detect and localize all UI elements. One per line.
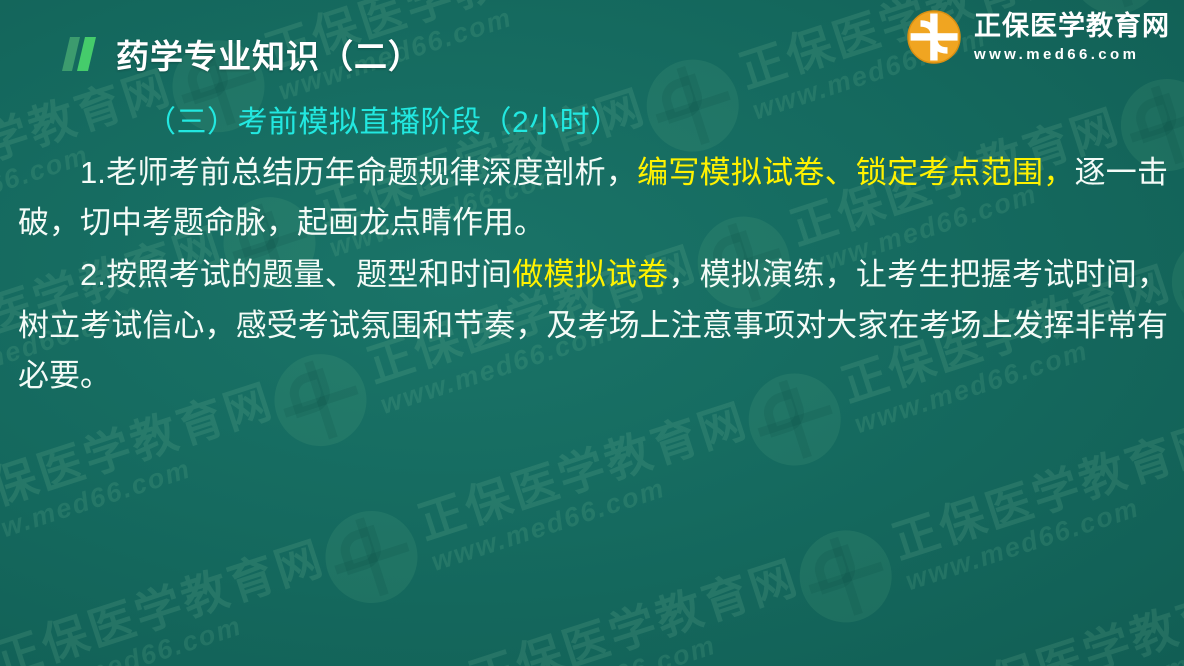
brand-text: 正保医学教育网 www.med66.com [974, 13, 1170, 62]
watermark-tile: 正保医学教育网www.med66.com [0, 527, 342, 666]
watermark-tile: 正保医学教育网www.med66.com [0, 370, 291, 595]
watermark-med-cross-circle-icon [788, 518, 904, 634]
para-1: 1.老师考前总结历年命题规律深度剖析，编写模拟试卷、锁定考点范围，逐一击破，切中… [18, 148, 1168, 248]
section-subtitle: （三）考前模拟直播阶段（2小时） [146, 97, 621, 141]
watermark-med-cross-circle-icon [635, 47, 751, 163]
watermark-name: 正保医学教育网 [413, 396, 754, 548]
page-title: 药学专业知识（二） [116, 30, 422, 78]
watermark-name: 正保医学教育网 [887, 415, 1184, 567]
watermark-url: www.med66.com [0, 424, 289, 557]
watermark-med-cross-circle-icon [314, 499, 430, 615]
watermark-tile: 正保医学教育网www.med66.com [584, 0, 1036, 6]
watermark-url: www.med66.com [479, 601, 814, 666]
watermark-url: www.med66.com [903, 463, 1184, 596]
watermark-tile: 正保医学教育网www.med66.com [314, 390, 766, 615]
body-text: 1.老师考前总结历年命题规律深度剖析， [80, 155, 637, 190]
watermark-url: www.med66.com [954, 620, 1184, 666]
watermark-text: 正保医学教育网www.med66.com [413, 396, 764, 577]
watermark-tile: 正保医学教育网www.med66.com [839, 566, 1184, 666]
watermark-tile: 正保医学教育网www.med66.com [788, 409, 1184, 634]
brand-url: www.med66.com [974, 47, 1170, 62]
brand-name: 正保医学教育网 [974, 13, 1170, 40]
watermark-text: 正保医学教育网www.med66.com [0, 377, 289, 558]
watermark-name: 正保医学教育网 [464, 553, 805, 666]
watermark-name: 正保医学教育网 [938, 572, 1184, 666]
highlighted-text: 做模拟试卷 [512, 257, 668, 292]
med-cross-circle-icon [906, 9, 962, 65]
watermark-med-cross-circle-icon [584, 0, 700, 6]
watermark-med-cross-circle-icon [365, 656, 481, 666]
watermark-text: 正保医学教育网www.med66.com [464, 553, 815, 666]
watermark-url: www.med66.com [428, 444, 763, 577]
watermark-text: 正保医学教育网www.med66.com [0, 533, 340, 666]
para-2: 2.按照考试的题量、题型和时间做模拟试卷，模拟演练，让考生把握考试时间，树立考试… [18, 250, 1168, 401]
brand-logo: 正保医学教育网 www.med66.com [906, 9, 1170, 65]
green-slanted-bars-icon [56, 31, 102, 77]
watermark-name: 正保医学教育网 [0, 533, 331, 666]
body-text: 2.按照考试的题量、题型和时间 [80, 257, 512, 292]
page-title-row: 药学专业知识（二） [56, 30, 422, 78]
watermark-text: 正保医学教育网www.med66.com [887, 415, 1184, 596]
watermark-med-cross-circle-icon [0, 636, 6, 666]
watermark-tile: 正保医学教育网www.med66.com [365, 546, 817, 666]
highlighted-text: 编写模拟试卷、锁定考点范围， [637, 155, 1074, 190]
watermark-url: www.med66.com [5, 581, 340, 666]
watermark-text: 正保医学教育网www.med66.com [938, 572, 1184, 666]
body-content: 1.老师考前总结历年命题规律深度剖析，编写模拟试卷、锁定考点范围，逐一击破，切中… [18, 148, 1168, 403]
slide-canvas: 正保医学教育网www.med66.com正保医学教育网www.med66.com… [0, 0, 1184, 666]
